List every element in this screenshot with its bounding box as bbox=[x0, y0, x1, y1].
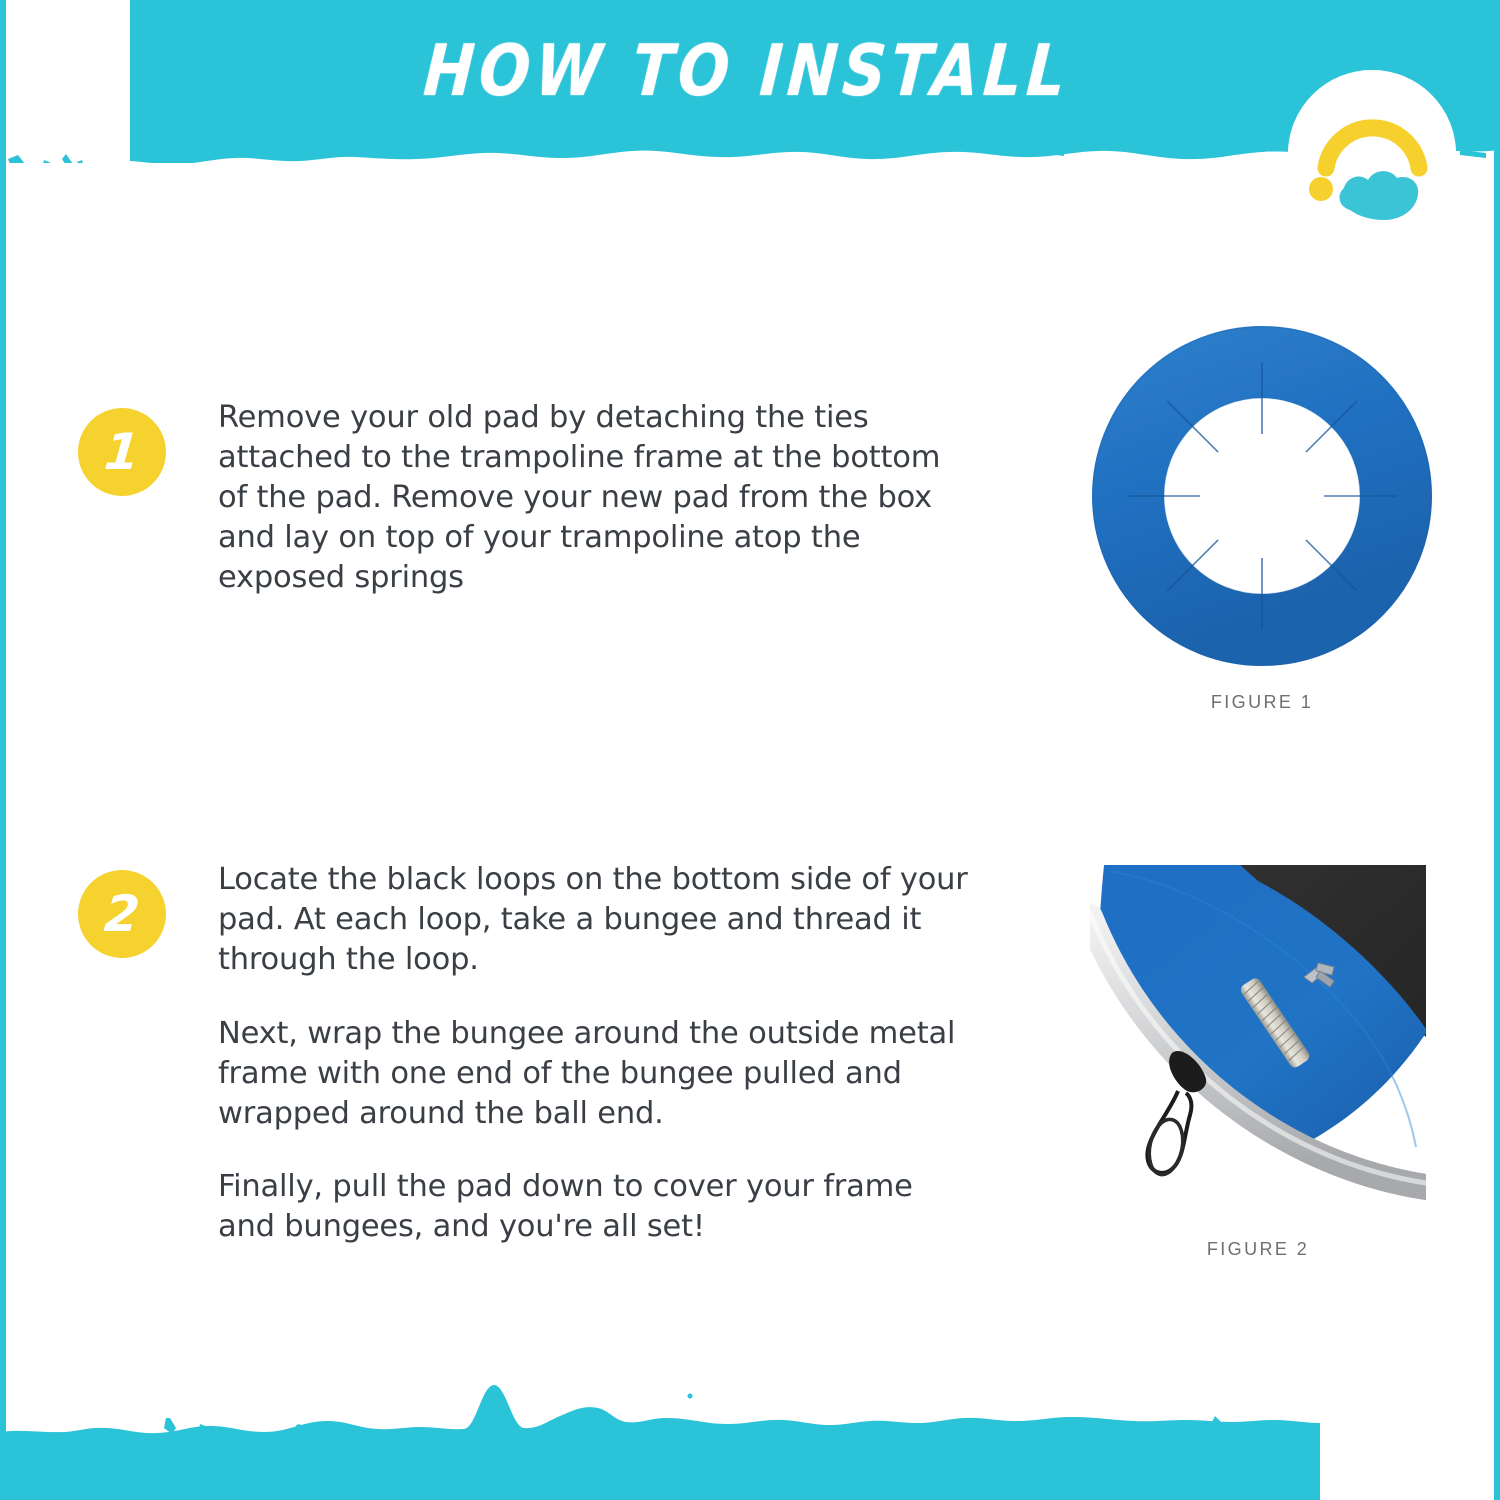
install-instructions-page: HOW TO INSTALL 1 Remove your old pad by … bbox=[0, 0, 1500, 1500]
step-2-paragraph-2: Next, wrap the bungee around the outside… bbox=[218, 1014, 978, 1134]
trampoline-pad-ring-icon bbox=[1092, 326, 1432, 666]
step-number-badge-2: 2 bbox=[78, 870, 166, 958]
steps-list: 1 Remove your old pad by detaching the t… bbox=[78, 398, 978, 1247]
step-2-paragraph-3: Finally, pull the pad down to cover your… bbox=[218, 1167, 978, 1247]
figure-1-illustration bbox=[1092, 326, 1432, 666]
step-body-1: Remove your old pad by detaching the tie… bbox=[218, 398, 978, 598]
figure-2-illustration bbox=[1090, 857, 1426, 1201]
step-item-1: 1 Remove your old pad by detaching the t… bbox=[78, 398, 978, 598]
sun-cloud-logo bbox=[1288, 70, 1456, 238]
step-2-paragraph-1: Locate the black loops on the bottom sid… bbox=[218, 860, 978, 980]
page-title: HOW TO INSTALL bbox=[0, 30, 1500, 113]
step-1-paragraph-1: Remove your old pad by detaching the tie… bbox=[218, 398, 978, 598]
step-number-1: 1 bbox=[74, 408, 170, 496]
step-number-2: 2 bbox=[74, 870, 170, 958]
figure-2: FIGURE 2 bbox=[1090, 857, 1426, 1260]
figure-1: FIGURE 1 bbox=[1092, 326, 1432, 713]
right-edge-rail bbox=[1494, 0, 1500, 1500]
figure-2-caption: FIGURE 2 bbox=[1090, 1239, 1426, 1260]
step-number-badge-1: 1 bbox=[78, 408, 166, 496]
trampoline-pad-edge-photo bbox=[1090, 857, 1426, 1201]
step-item-2: 2 Locate the black loops on the bottom s… bbox=[78, 860, 978, 1248]
figure-1-caption: FIGURE 1 bbox=[1092, 692, 1432, 713]
step-body-2: Locate the black loops on the bottom sid… bbox=[218, 860, 978, 1248]
logo-mark bbox=[1288, 70, 1456, 238]
sun-dot-icon bbox=[1309, 177, 1333, 201]
left-edge-rail bbox=[0, 0, 6, 1500]
footer-banner bbox=[0, 1380, 1500, 1500]
footer-band-shape bbox=[0, 1380, 1500, 1500]
